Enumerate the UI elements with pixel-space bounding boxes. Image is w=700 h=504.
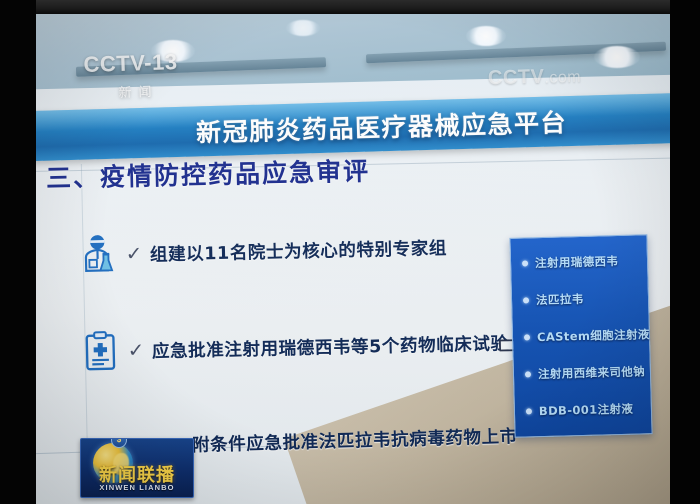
drug-name: 注射用瑞德西韦 bbox=[535, 252, 619, 270]
bullet-dot-icon bbox=[526, 408, 532, 414]
bullet-dot-icon bbox=[524, 334, 530, 340]
slide-item-list: ✓ 组建以11名院士为核心的特别专家组 ✓ 应急批准注射用瑞德西韦等5个药物临床… bbox=[36, 14, 556, 464]
list-item-label: 应急批准注射用瑞德西韦等5个药物临床试验 bbox=[152, 330, 509, 363]
researcher-flask-icon bbox=[80, 233, 121, 276]
drug-list-item: 法匹拉韦 bbox=[512, 278, 649, 319]
letterbox-right bbox=[670, 0, 700, 504]
list-item: ✓ 应急批准注射用瑞德西韦等5个药物临床试验 bbox=[82, 321, 509, 373]
list-item: ✓ 组建以11名院士为核心的特别专家组 bbox=[80, 226, 448, 276]
drug-list-item: 注射用西维来司他钠 bbox=[513, 352, 650, 393]
tv-broadcast-screenshot: CCTV-13 新闻 CCTV.com 新冠肺炎药品医疗器械应急平台 三、疫情防… bbox=[0, 0, 700, 504]
letterbox-left bbox=[0, 0, 36, 504]
program-logo-pinyin: XINWEN LIANBO bbox=[81, 483, 193, 492]
list-item-label: 组建以11名院士为核心的特别专家组 bbox=[150, 234, 448, 266]
drug-name: CAStem细胞注射液 bbox=[537, 326, 650, 345]
check-icon: ✓ bbox=[127, 341, 144, 360]
drug-list: 注射用瑞德西韦 法匹拉韦 CAStem细胞注射液 注射用西维来司他钠 BDB-0… bbox=[511, 241, 652, 442]
medical-clipboard-icon bbox=[82, 330, 123, 373]
letterbox-top bbox=[0, 0, 700, 14]
drug-list-item: BDB-001注射液 bbox=[514, 389, 651, 430]
drug-list-item: CAStem细胞注射液 bbox=[513, 315, 650, 356]
list-item-label: 附条件应急批准法匹拉韦抗病毒药物上市 bbox=[192, 422, 518, 456]
filmed-scene: CCTV-13 新闻 CCTV.com 新冠肺炎药品医疗器械应急平台 三、疫情防… bbox=[36, 14, 670, 504]
drug-list-item: 注射用瑞德西韦 bbox=[511, 241, 648, 282]
drug-name: 注射用西维来司他钠 bbox=[538, 363, 645, 382]
drug-name: 法匹拉韦 bbox=[536, 290, 584, 307]
bullet-dot-icon bbox=[525, 371, 531, 377]
drug-list-panel: 注射用瑞德西韦 法匹拉韦 CAStem细胞注射液 注射用西维来司他钠 BDB-0… bbox=[509, 234, 652, 438]
ceiling-light bbox=[594, 46, 640, 68]
drug-name: BDB-001注射液 bbox=[539, 400, 634, 418]
check-icon: ✓ bbox=[125, 244, 142, 263]
bullet-dot-icon bbox=[523, 297, 529, 303]
xinwen-lianbo-logo: $ 新闻联播 XINWEN LIANBO bbox=[80, 438, 194, 498]
bullet-dot-icon bbox=[522, 260, 528, 266]
